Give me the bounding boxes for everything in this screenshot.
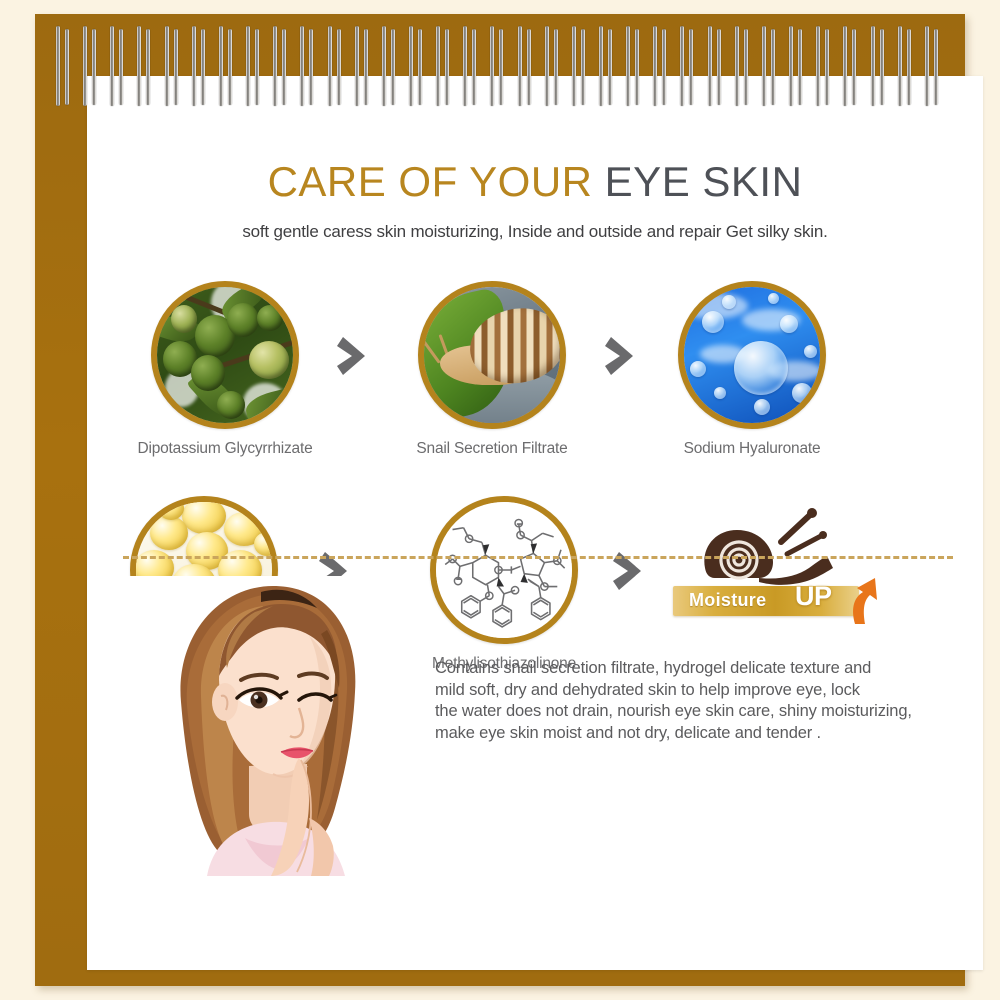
description-line: Contains snail secretion filtrate, hydro… — [435, 658, 965, 680]
water-droplets-art — [684, 287, 820, 423]
ingredient-item-snail-secretion-filtrate: Snail Secretion Filtrate — [397, 281, 587, 458]
ingredient-image-water-droplets — [678, 281, 826, 429]
page-title-gold: CARE OF YOUR — [268, 158, 593, 205]
ingredient-label: Dipotassium Glycyrrhizate — [130, 440, 320, 458]
ingredient-image-snail — [418, 281, 566, 429]
section-divider — [123, 556, 953, 559]
ingredient-label: Snail Secretion Filtrate — [397, 440, 587, 458]
product-infographic-page: CARE OF YOUR EYE SKIN soft gentle caress… — [0, 0, 1000, 1000]
model-photo — [123, 576, 413, 876]
notepad-frame: CARE OF YOUR EYE SKIN soft gentle caress… — [35, 14, 965, 986]
arrow-chevron-1 — [335, 333, 375, 379]
description-line: make eye skin moist and not dry, delicat… — [435, 723, 965, 745]
description-section: Contains snail secretion filtrate, hydro… — [87, 576, 983, 956]
snail-on-leaf-art — [424, 287, 560, 423]
notepad-page-sheet: CARE OF YOUR EYE SKIN soft gentle caress… — [87, 76, 983, 970]
page-title-dark: EYE SKIN — [605, 158, 803, 205]
olive-tree-art — [157, 287, 293, 423]
description-line: mild soft, dry and dehydrated skin to he… — [435, 680, 965, 702]
ingredient-row-1: Dipotassium Glycyrrhizate — [87, 281, 983, 496]
arrow-chevron-2 — [603, 333, 643, 379]
description-line: the water does not drain, nourish eye sk… — [435, 701, 965, 723]
description-text: Contains snail secretion filtrate, hydro… — [435, 658, 965, 744]
ingredient-image-olives — [151, 281, 299, 429]
ingredient-label: Sodium Hyaluronate — [657, 440, 847, 458]
ingredient-item-dipotassium-glycyrrhizate: Dipotassium Glycyrrhizate — [130, 281, 320, 458]
ingredient-item-sodium-hyaluronate: Sodium Hyaluronate — [657, 281, 847, 458]
page-subtitle: soft gentle caress skin moisturizing, In… — [87, 222, 983, 242]
page-title: CARE OF YOUR EYE SKIN — [87, 158, 983, 206]
